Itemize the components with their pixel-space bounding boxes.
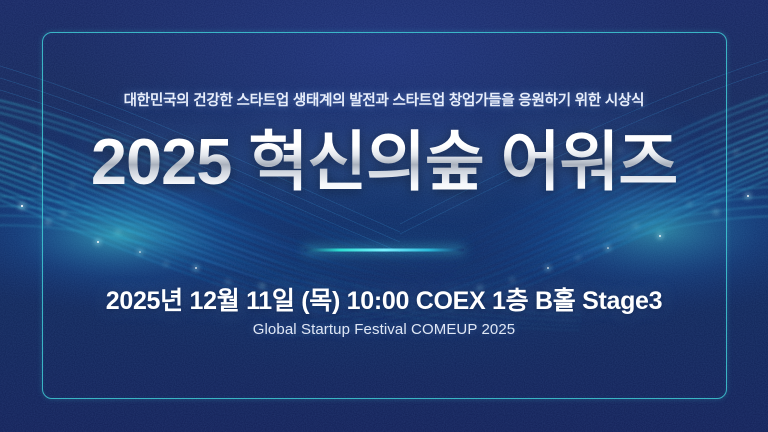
poster-festival-name: Global Startup Festival COMEUP 2025 — [0, 321, 768, 338]
poster-content: 대한민국의 건강한 스타트업 생태계의 발전과 스타트업 창업가들을 응원하기 … — [0, 0, 768, 432]
poster-main-title: 2025 혁신의숲 어워즈 — [0, 128, 768, 196]
poster-subtitle: 대한민국의 건강한 스타트업 생태계의 발전과 스타트업 창업가들을 응원하기 … — [0, 89, 768, 110]
poster-date-venue: 2025년 12월 11일 (목) 10:00 COEX 1층 B홀 Stage… — [0, 281, 768, 317]
event-poster: 대한민국의 건강한 스타트업 생태계의 발전과 스타트업 창업가들을 응원하기 … — [0, 0, 768, 432]
